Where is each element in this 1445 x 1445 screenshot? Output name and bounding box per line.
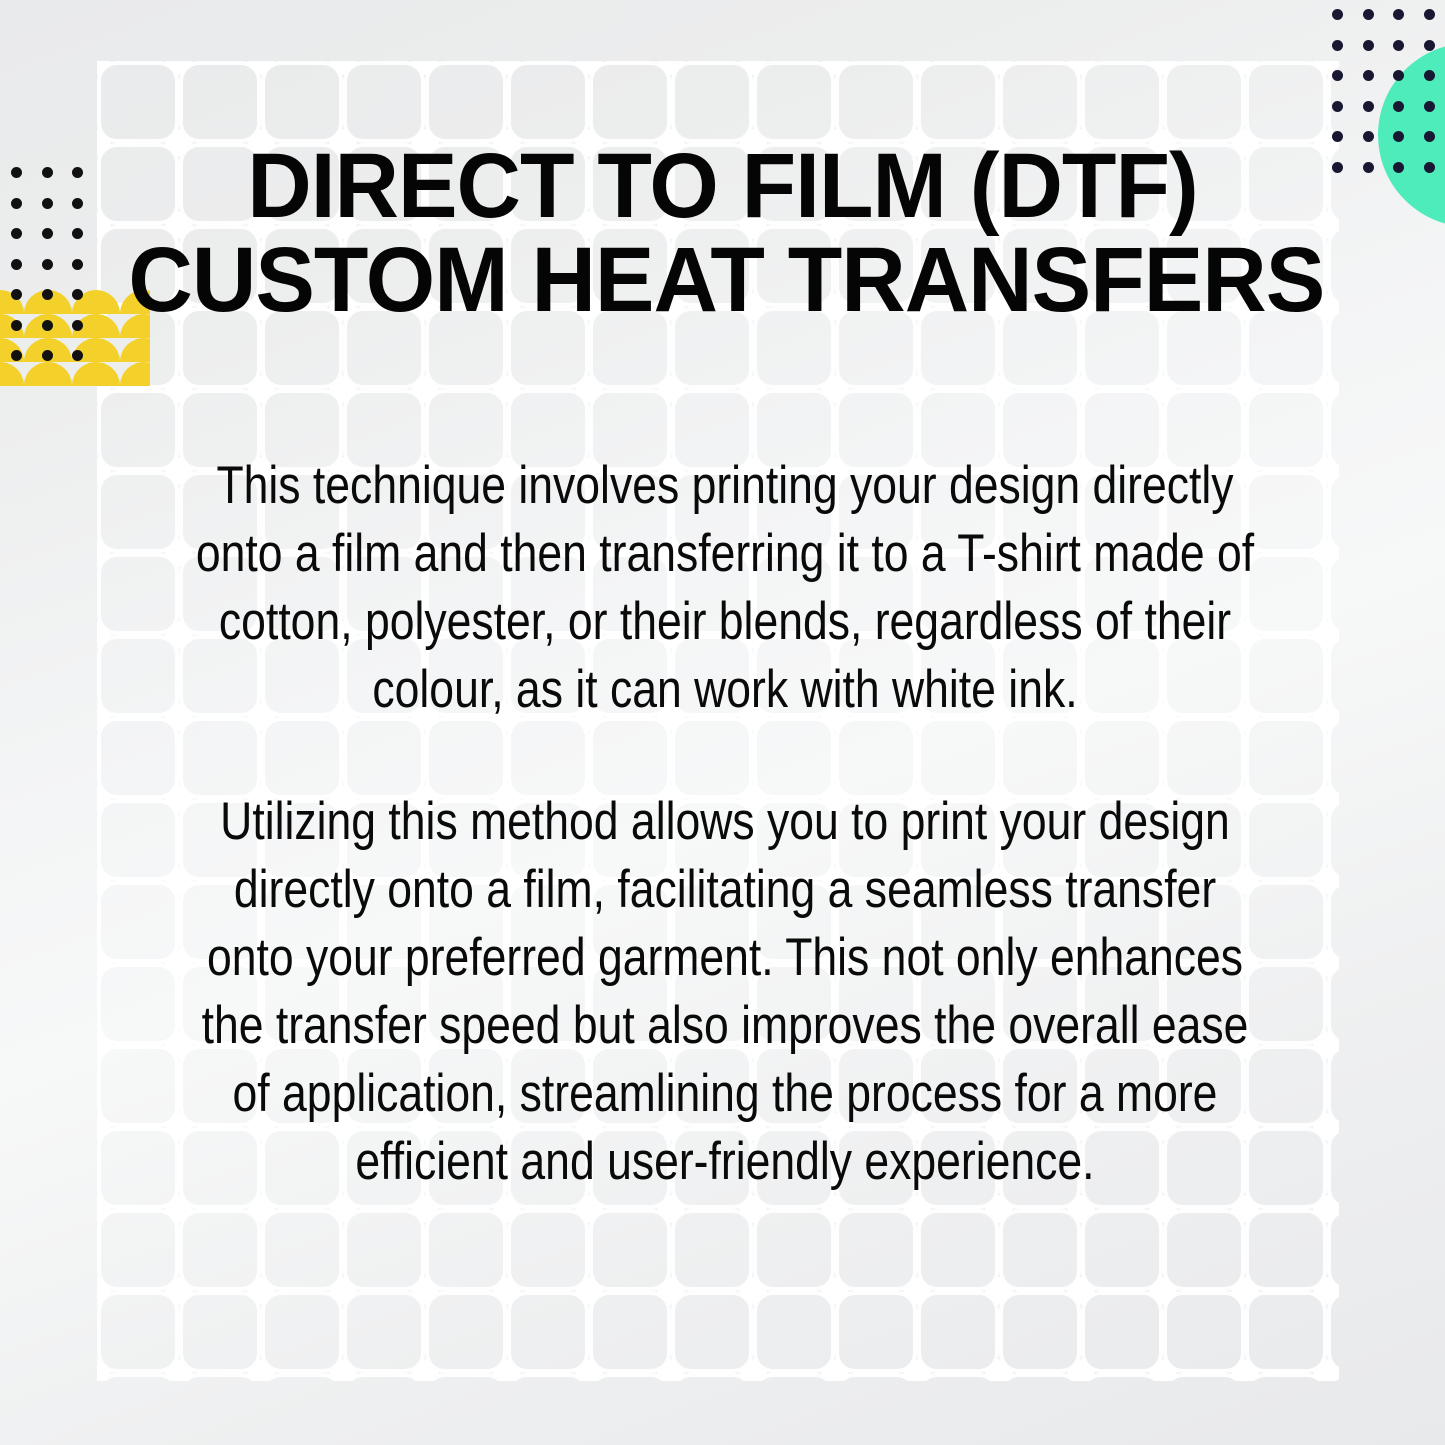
paragraph-2: Utilizing this method allows you to prin… [196, 788, 1254, 1196]
title-line-2: CUSTOM HEAT TRANSFERS [128, 234, 1316, 328]
poster-canvas: DIRECT TO FILM (DTF) CUSTOM HEAT TRANSFE… [0, 0, 1445, 1445]
body-copy: This technique involves printing your de… [196, 452, 1254, 1196]
paragraph-spacer [196, 724, 1254, 788]
poster-content: DIRECT TO FILM (DTF) CUSTOM HEAT TRANSFE… [0, 0, 1445, 1445]
paragraph-1: This technique involves printing your de… [196, 452, 1254, 724]
page-title: DIRECT TO FILM (DTF) CUSTOM HEAT TRANSFE… [128, 140, 1316, 328]
title-line-1: DIRECT TO FILM (DTF) [128, 140, 1316, 234]
